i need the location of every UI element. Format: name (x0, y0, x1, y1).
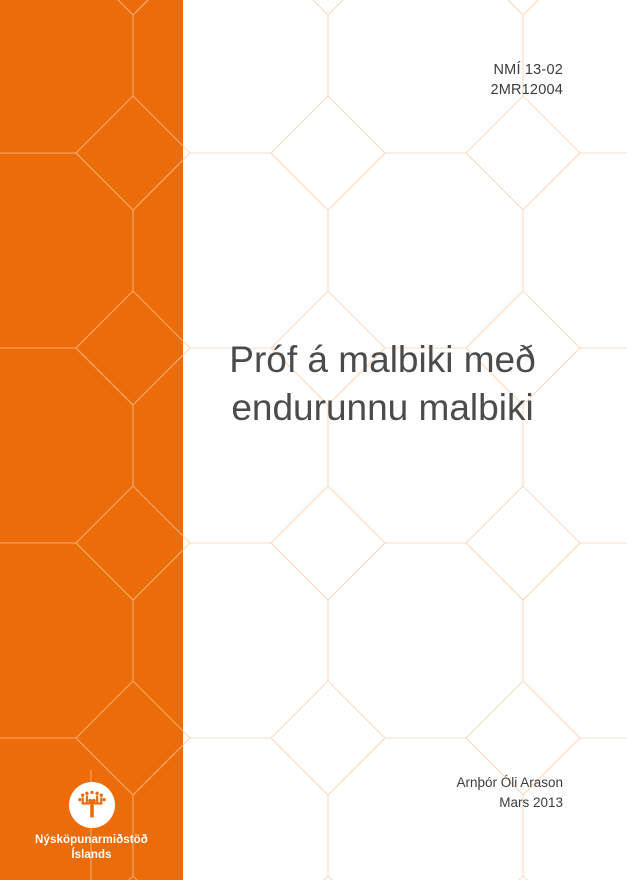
page-title: Próf á malbiki með endurunnu malbiki (200, 336, 565, 432)
author-and-date: Arnþór Óli Arason Mars 2013 (456, 773, 563, 813)
page-title-line-2: endurunnu malbiki (200, 384, 565, 432)
brand-orange-band (0, 0, 183, 880)
tree-emblem-icon (69, 782, 115, 828)
author-name: Arnþór Óli Arason (456, 773, 563, 793)
organisation-name-line-1: Nýsköpunarmiðstöð (0, 833, 183, 848)
report-number-secondary: 2MR12004 (490, 80, 563, 100)
organisation-logo: Nýsköpunarmiðstöð Íslands (0, 782, 183, 862)
publication-date: Mars 2013 (456, 793, 563, 813)
document-cover-page: NMÍ 13-02 2MR12004 Próf á malbiki með en… (0, 0, 627, 880)
page-title-line-1: Próf á malbiki með (200, 336, 565, 384)
report-number-primary: NMÍ 13-02 (490, 60, 563, 80)
organisation-name: Nýsköpunarmiðstöð Íslands (0, 833, 183, 862)
report-identifier: NMÍ 13-02 2MR12004 (490, 60, 563, 100)
organisation-name-line-2: Íslands (0, 848, 183, 863)
